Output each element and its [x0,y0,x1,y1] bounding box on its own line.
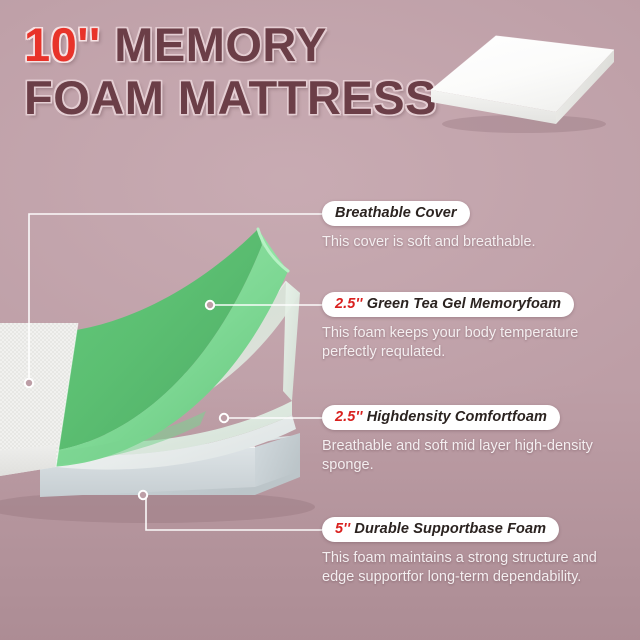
callout-desc-breathable-cover: This cover is soft and breathable. [322,233,604,252]
callout-desc-support-base: This foam maintains a strong structure a… [322,549,604,587]
callout-pill-comfort-foam[interactable]: 2.5'' Highdensity Comfortfoam [322,405,560,430]
mid-layer-right-edge [283,281,300,401]
callout-comfort-foam[interactable]: 2.5'' Highdensity Comfortfoam Breathable… [322,405,622,475]
callout-title-breathable-cover: Breathable Cover [335,205,457,221]
callout-support-base[interactable]: 5'' Durable Supportbase Foam This foam m… [322,517,622,587]
cutaway-layers-svg [0,215,340,545]
callout-desc-green-tea-gel: This foam keeps your body temperature pe… [322,324,604,362]
callout-pill-green-tea-gel[interactable]: 2.5'' Green Tea Gel Memoryfoam [322,292,574,317]
callout-measure-green-tea-gel: 2.5'' [335,296,363,312]
mattress-cutaway-diagram [0,215,340,545]
callout-pill-support-base[interactable]: 5'' Durable Supportbase Foam [322,517,559,542]
title-size-label: 10'' [24,18,101,71]
callout-title-comfort-foam: Highdensity Comfortfoam [367,409,547,425]
callout-measure-comfort-foam: 2.5'' [335,409,363,425]
title-line-2: FOAM MATTRESS [24,75,444,121]
hero-product-image [428,28,618,138]
mattress-infographic-poster: 10'' MEMORY FOAM MATTRESS [0,0,640,640]
page-title: 10'' MEMORY FOAM MATTRESS [24,22,444,121]
callout-pill-breathable-cover[interactable]: Breathable Cover [322,201,470,226]
callout-desc-comfort-foam: Breathable and soft mid layer high-densi… [322,437,604,475]
callout-measure-support-base: 5'' [335,521,350,537]
mattress-3d-illustration [428,28,618,138]
title-line-1: 10'' MEMORY [24,22,444,68]
callout-green-tea-gel[interactable]: 2.5'' Green Tea Gel Memoryfoam This foam… [322,292,622,362]
callout-breathable-cover[interactable]: Breathable Cover This cover is soft and … [322,201,622,252]
title-line-1-rest: MEMORY [101,18,327,71]
callout-title-green-tea-gel: Green Tea Gel Memoryfoam [367,296,561,312]
callout-title-support-base: Durable Supportbase Foam [354,521,546,537]
